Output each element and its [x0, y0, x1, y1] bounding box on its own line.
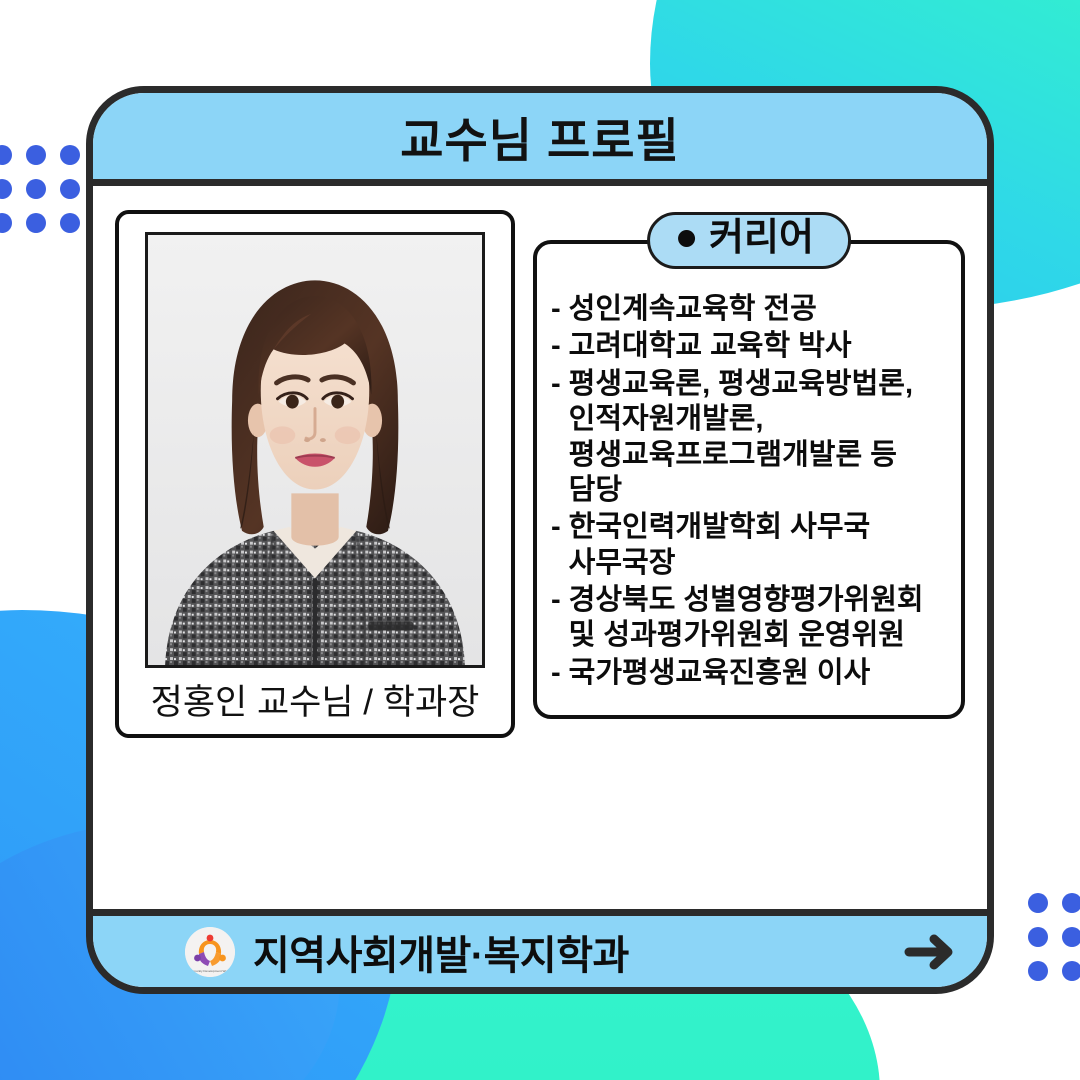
dot [26, 213, 46, 233]
career-item-label: 성인계속교육학 전공 [569, 292, 947, 327]
page-title: 교수님 프로필 [400, 102, 680, 171]
career-item-dash: - [551, 329, 561, 364]
career-item-dash: - [551, 656, 561, 691]
career-badge: 커리어 [647, 212, 851, 269]
career-box: - 성인계속교육학 전공 - 고려대학교 교육학 박사 - 평생교육론, 평생교… [533, 240, 965, 719]
career-item: - 국가평생교육진흥원 이사 [551, 656, 947, 691]
dot-grid-right [1028, 893, 1080, 981]
bullet-dot-icon [678, 230, 695, 247]
dot [0, 179, 12, 199]
career-item-dash: - [551, 583, 561, 618]
career-list: - 성인계속교육학 전공 - 고려대학교 교육학 박사 - 평생교육론, 평생교… [551, 292, 947, 691]
dot [1028, 893, 1048, 913]
portrait-block: 정홍인 교수님 / 학과장 [115, 210, 515, 738]
career-block: 커리어 - 성인계속교육학 전공 - 고려대학교 교육학 박사 - 평생교육론,… [533, 240, 965, 719]
career-item: - 경상북도 성별영향평가위원회 및 성과평가위원회 운영위원 [551, 583, 947, 654]
career-item: - 고려대학교 교육학 박사 [551, 329, 947, 364]
career-item-dash: - [551, 367, 561, 402]
dot [0, 213, 12, 233]
dot [0, 145, 12, 165]
dot [1028, 927, 1048, 947]
career-item-dash: - [551, 510, 561, 545]
career-item: - 성인계속교육학 전공 [551, 292, 947, 327]
dot [1062, 893, 1080, 913]
career-item-label: 국가평생교육진흥원 이사 [569, 656, 947, 691]
professor-photo [145, 232, 485, 668]
card-header: 교수님 프로필 [93, 93, 987, 186]
department-name: 지역사회개발·복지학과 [253, 923, 629, 981]
dot-grid-left [0, 145, 80, 233]
career-item-label: 고려대학교 교육학 박사 [569, 329, 947, 364]
logo-caption: Community Development Welfare [187, 969, 233, 973]
career-item-label: 평생교육론, 평생교육방법론, 인적자원개발론, 평생교육프로그램개발론 등 담… [569, 367, 947, 509]
profile-card: 교수님 프로필 [86, 86, 994, 994]
career-item-dash: - [551, 292, 561, 327]
portrait-caption: 정홍인 교수님 / 학과장 [151, 682, 480, 724]
dot [1062, 961, 1080, 981]
career-badge-label: 커리어 [709, 219, 814, 259]
dot [1028, 961, 1048, 981]
card-footer: Community Development Welfare 지역사회개발·복지학… [93, 909, 987, 987]
card-body: 정홍인 교수님 / 학과장 커리어 - 성인계속교육학 전공 - 고려대학교 교… [93, 186, 987, 909]
arrow-right-icon[interactable] [901, 931, 961, 973]
career-item-label: 경상북도 성별영향평가위원회 및 성과평가위원회 운영위원 [569, 583, 947, 654]
career-item: - 평생교육론, 평생교육방법론, 인적자원개발론, 평생교육프로그램개발론 등… [551, 367, 947, 509]
dot [60, 179, 80, 199]
community-development-welfare-logo: Community Development Welfare [185, 927, 235, 977]
dot [26, 179, 46, 199]
dot [26, 145, 46, 165]
dot [60, 145, 80, 165]
career-item: - 한국인력개발학회 사무국 사무국장 [551, 510, 947, 581]
dot [60, 213, 80, 233]
career-item-label: 한국인력개발학회 사무국 사무국장 [569, 510, 947, 581]
dot [1062, 927, 1080, 947]
